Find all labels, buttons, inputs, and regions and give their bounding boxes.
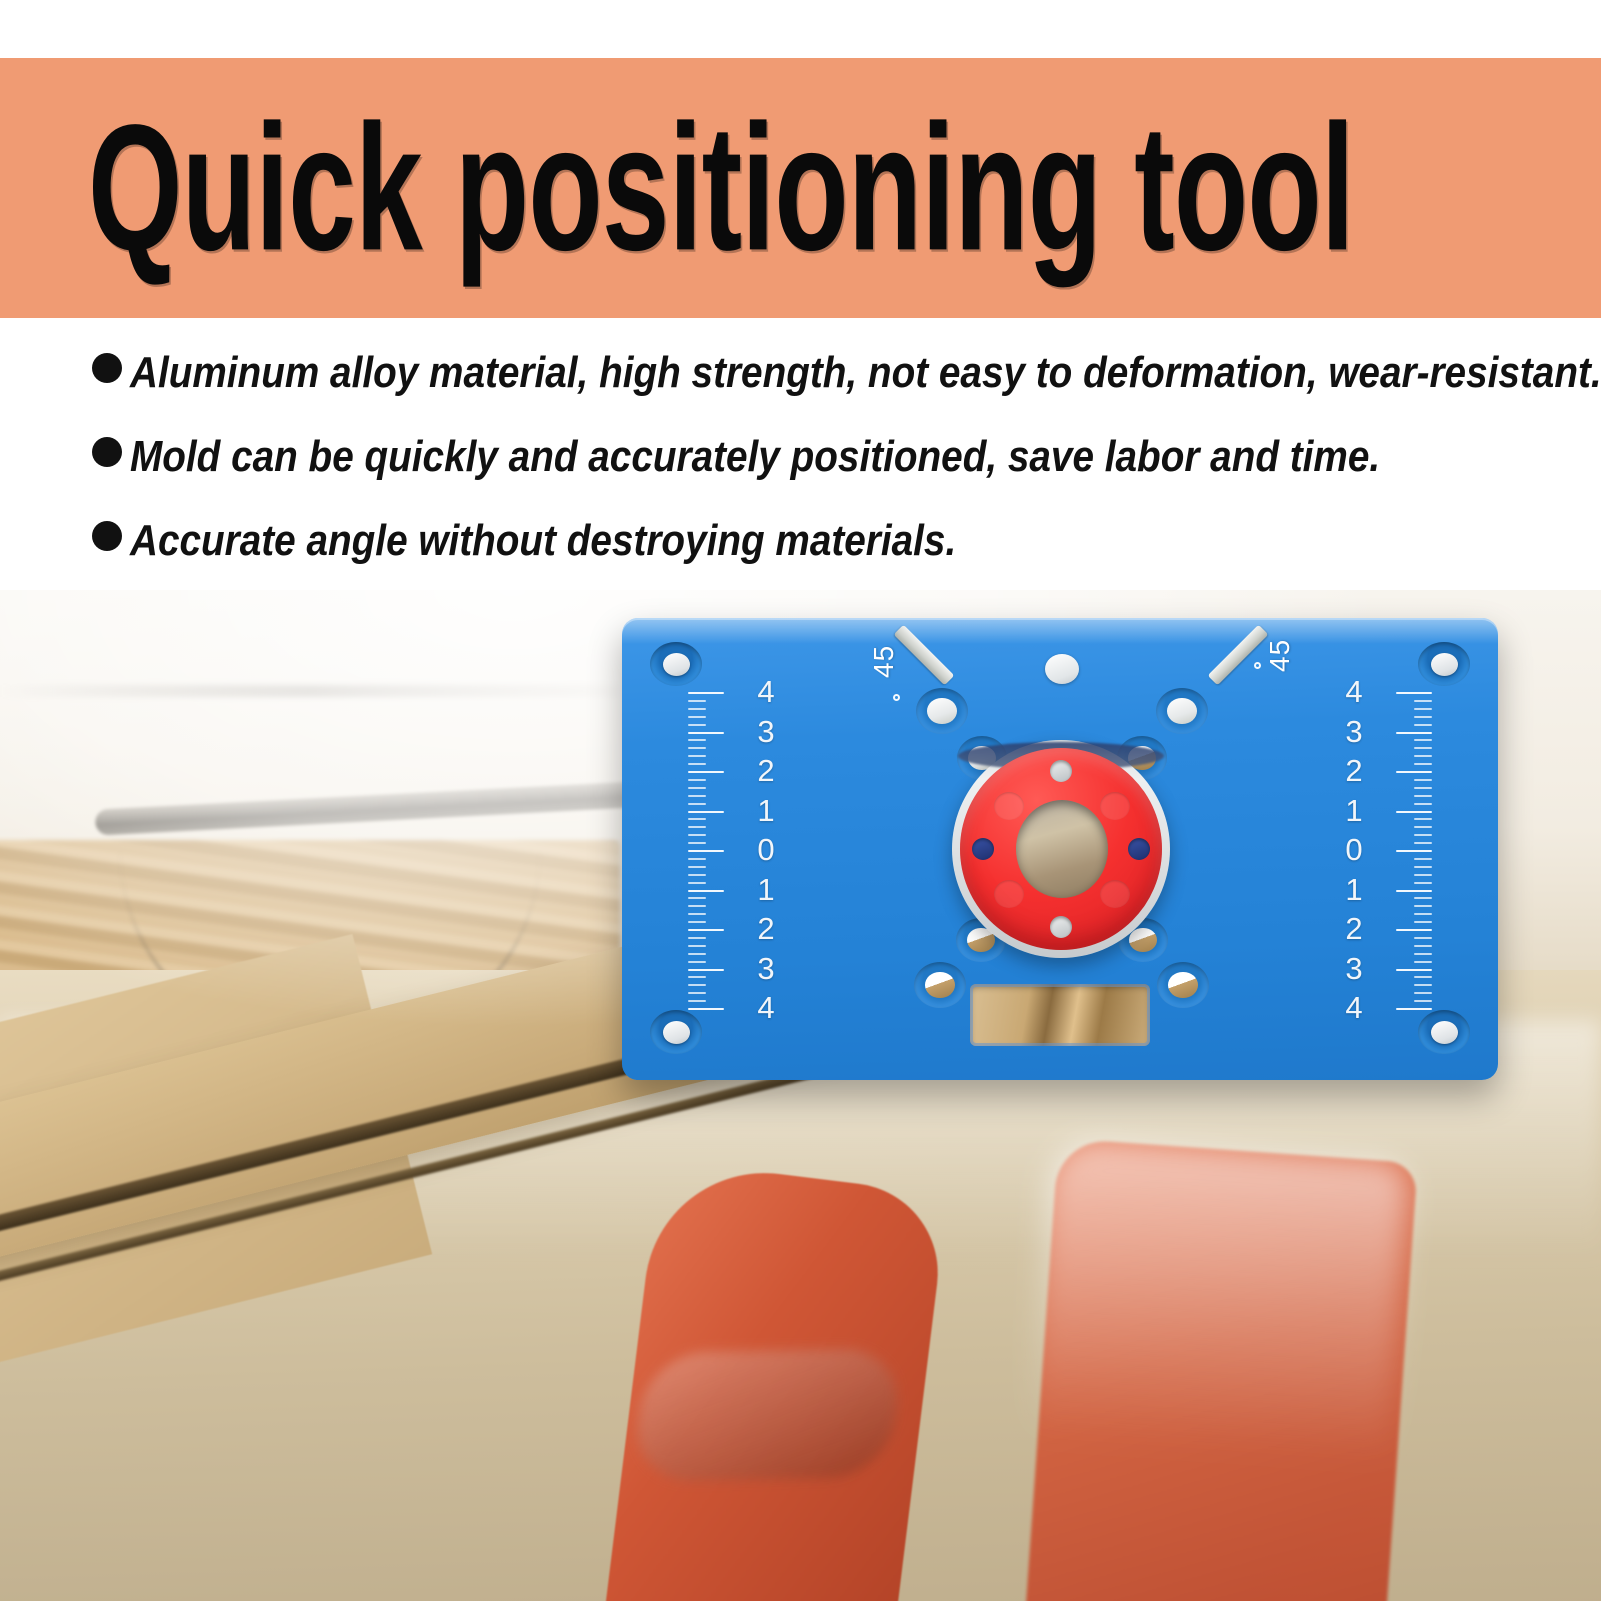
ruler-tick-label: 4 (1332, 676, 1376, 707)
ruler-tick-minor (1414, 700, 1432, 702)
ruler-tick-minor (1414, 795, 1432, 797)
ruler-tick-minor (688, 858, 706, 860)
ruler-tick-minor (1414, 834, 1432, 836)
ruler-tick-major (1396, 771, 1432, 773)
ruler-tick-minor (688, 921, 706, 923)
ruler-ticks (1376, 692, 1432, 1008)
ruler-tick-minor (1414, 992, 1432, 994)
ruler-tick-minor (688, 1000, 706, 1002)
feature-text: Accurate angle without destroying materi… (130, 516, 956, 566)
ruler-tick-minor (688, 795, 706, 797)
ruler-tick-minor (688, 747, 706, 749)
ruler-tick-major (688, 771, 724, 773)
ruler-tick-minor (688, 913, 706, 915)
ruler-tick-minor (1414, 818, 1432, 820)
ruler-tick-minor (688, 763, 706, 765)
ruler-tick-minor (688, 945, 706, 947)
ruler-tick-label: 1 (1332, 874, 1376, 905)
mounting-hole (916, 688, 968, 734)
ruler-tick-minor (688, 826, 706, 828)
corner-mounting-hole (650, 642, 702, 686)
ruler-tick-label: 4 (1332, 992, 1376, 1023)
router-bit-opening (1016, 800, 1108, 898)
ruler-tick-minor (688, 905, 706, 907)
angle-label: 45 (868, 645, 900, 678)
angle-bar-icon (1208, 625, 1269, 686)
ruler-tick-minor (1414, 787, 1432, 789)
worker-torso-highlight (1030, 1138, 1410, 1462)
ruler-tick-label: 3 (1332, 953, 1376, 984)
ruler-tick-major (1396, 969, 1432, 971)
ring-dimple (994, 880, 1024, 908)
ruler-tick-label: 1 (744, 874, 788, 905)
ruler-tick-major (1396, 850, 1432, 852)
ruler-tick-major (1396, 890, 1432, 892)
ruler-tick-minor (688, 953, 706, 955)
ruler-tick-minor (688, 874, 706, 876)
ruler-tick-minor (1414, 874, 1432, 876)
bullet-dot-icon (92, 521, 122, 551)
ruler-tick-minor (1414, 858, 1432, 860)
angle-bar-icon (894, 625, 955, 686)
ruler-tick-major (688, 732, 724, 734)
ruler-tick-minor (1414, 763, 1432, 765)
ruler-tick-label: 2 (744, 755, 788, 786)
ring-dimple (1100, 792, 1130, 820)
ruler-ticks (688, 692, 744, 1008)
ruler-tick-label: 4 (744, 992, 788, 1023)
ruler-tick-major (688, 929, 724, 931)
ruler-tick-minor (1414, 866, 1432, 868)
header-banner: Quick positioning tool (0, 58, 1601, 318)
ruler-tick-label: 2 (744, 913, 788, 944)
ruler-tick-minor (1414, 953, 1432, 955)
feature-text: Aluminum alloy material, high strength, … (130, 348, 1601, 398)
center-top-hole (1045, 654, 1079, 684)
ruler-tick-major (1396, 1008, 1432, 1010)
ruler-tick-minor (1414, 724, 1432, 726)
ruler-tick-label: 3 (744, 953, 788, 984)
ruler-numbers: 432101234 (1332, 692, 1376, 1008)
ruler-tick-minor (688, 818, 706, 820)
list-item: Accurate angle without destroying materi… (0, 516, 1601, 600)
ruler-tick-minor (1414, 984, 1432, 986)
ruler-tick-minor (688, 708, 706, 710)
router-insert-plate: 432101234 432101234 45 45 (622, 618, 1498, 1080)
feature-text: Mold can be quickly and accurately posit… (130, 432, 1380, 482)
ruler-tick-minor (1414, 716, 1432, 718)
ring-screw-hole (972, 838, 994, 860)
product-poster: Quick positioning tool Aluminum alloy ma… (0, 0, 1601, 1601)
ruler-tick-minor (1414, 755, 1432, 757)
ruler-tick-minor (1414, 921, 1432, 923)
degree-symbol-icon (1254, 662, 1261, 669)
ruler-tick-minor (688, 700, 706, 702)
ruler-tick-minor (688, 724, 706, 726)
ruler-tick-label: 0 (1332, 834, 1376, 865)
ruler-tick-major (688, 1008, 724, 1010)
angle-label: 45 (1264, 639, 1296, 672)
corner-mounting-hole (650, 1010, 702, 1054)
ruler-tick-minor (688, 976, 706, 978)
ring-screw-hole (1050, 760, 1072, 782)
ruler-tick-major (1396, 929, 1432, 931)
ruler-tick-label: 2 (1332, 755, 1376, 786)
ruler-tick-minor (688, 803, 706, 805)
rectangular-slot-window (970, 984, 1150, 1046)
ruler-tick-minor (1414, 913, 1432, 915)
sleeve-fold (631, 1348, 904, 1482)
ruler-tick-minor (688, 937, 706, 939)
ruler-tick-label: 1 (744, 795, 788, 826)
ruler-tick-minor (688, 961, 706, 963)
degree-symbol-icon (893, 694, 900, 701)
ruler-tick-major (688, 692, 724, 694)
ruler-tick-minor (688, 897, 706, 899)
ruler-tick-minor (688, 882, 706, 884)
ruler-numbers: 432101234 (744, 692, 788, 1008)
list-item: Aluminum alloy material, high strength, … (0, 348, 1601, 432)
ruler-tick-minor (688, 779, 706, 781)
ruler-tick-minor (688, 739, 706, 741)
insert-ring (960, 748, 1162, 950)
ruler-tick-major (688, 969, 724, 971)
ruler-tick-minor (688, 834, 706, 836)
ruler-tick-minor (1414, 882, 1432, 884)
mounting-hole (914, 962, 966, 1008)
ruler-tick-minor (1414, 1000, 1432, 1002)
ruler-tick-minor (1414, 747, 1432, 749)
ruler-tick-major (1396, 692, 1432, 694)
ruler-tick-major (688, 811, 724, 813)
ruler-tick-major (688, 850, 724, 852)
scale-ruler-left: 432101234 (682, 692, 792, 1008)
ruler-tick-minor (1414, 905, 1432, 907)
ruler-tick-minor (1414, 779, 1432, 781)
mounting-hole (1156, 688, 1208, 734)
ruler-tick-minor (1414, 739, 1432, 741)
bullet-dot-icon (92, 353, 122, 383)
list-item: Mold can be quickly and accurately posit… (0, 432, 1601, 516)
ring-screw-hole (1128, 838, 1150, 860)
ruler-tick-minor (1414, 937, 1432, 939)
ruler-tick-label: 1 (1332, 795, 1376, 826)
ruler-tick-minor (688, 787, 706, 789)
ring-dimple (1100, 880, 1130, 908)
ruler-tick-label: 2 (1332, 913, 1376, 944)
ruler-tick-minor (1414, 803, 1432, 805)
ruler-tick-major (1396, 811, 1432, 813)
ruler-tick-minor (1414, 961, 1432, 963)
ruler-tick-minor (1414, 842, 1432, 844)
ruler-tick-minor (688, 716, 706, 718)
ruler-tick-minor (1414, 826, 1432, 828)
ruler-tick-label: 0 (744, 834, 788, 865)
scale-ruler-right: 432101234 (1328, 692, 1438, 1008)
ruler-tick-label: 3 (1332, 716, 1376, 747)
plate-top-gloss (622, 618, 1498, 644)
ruler-tick-label: 3 (744, 716, 788, 747)
ruler-tick-minor (688, 866, 706, 868)
ruler-tick-minor (1414, 976, 1432, 978)
ruler-tick-minor (1414, 708, 1432, 710)
ruler-tick-minor (688, 755, 706, 757)
ruler-tick-minor (1414, 945, 1432, 947)
ruler-tick-major (688, 890, 724, 892)
corner-mounting-hole (1418, 1010, 1470, 1054)
corner-mounting-hole (1418, 642, 1470, 686)
ruler-tick-minor (1414, 897, 1432, 899)
ring-dimple (994, 792, 1024, 820)
ruler-tick-minor (688, 992, 706, 994)
ruler-tick-major (1396, 732, 1432, 734)
bullet-dot-icon (92, 437, 122, 467)
insert-ring-outer-rim (952, 740, 1170, 958)
mounting-hole (1157, 962, 1209, 1008)
ruler-tick-minor (688, 842, 706, 844)
ruler-tick-label: 4 (744, 676, 788, 707)
ruler-tick-minor (688, 984, 706, 986)
ring-screw-hole (1050, 916, 1072, 938)
wall-rail (0, 685, 620, 697)
feature-list: Aluminum alloy material, high strength, … (0, 330, 1601, 592)
page-title: Quick positioning tool (88, 98, 1354, 277)
